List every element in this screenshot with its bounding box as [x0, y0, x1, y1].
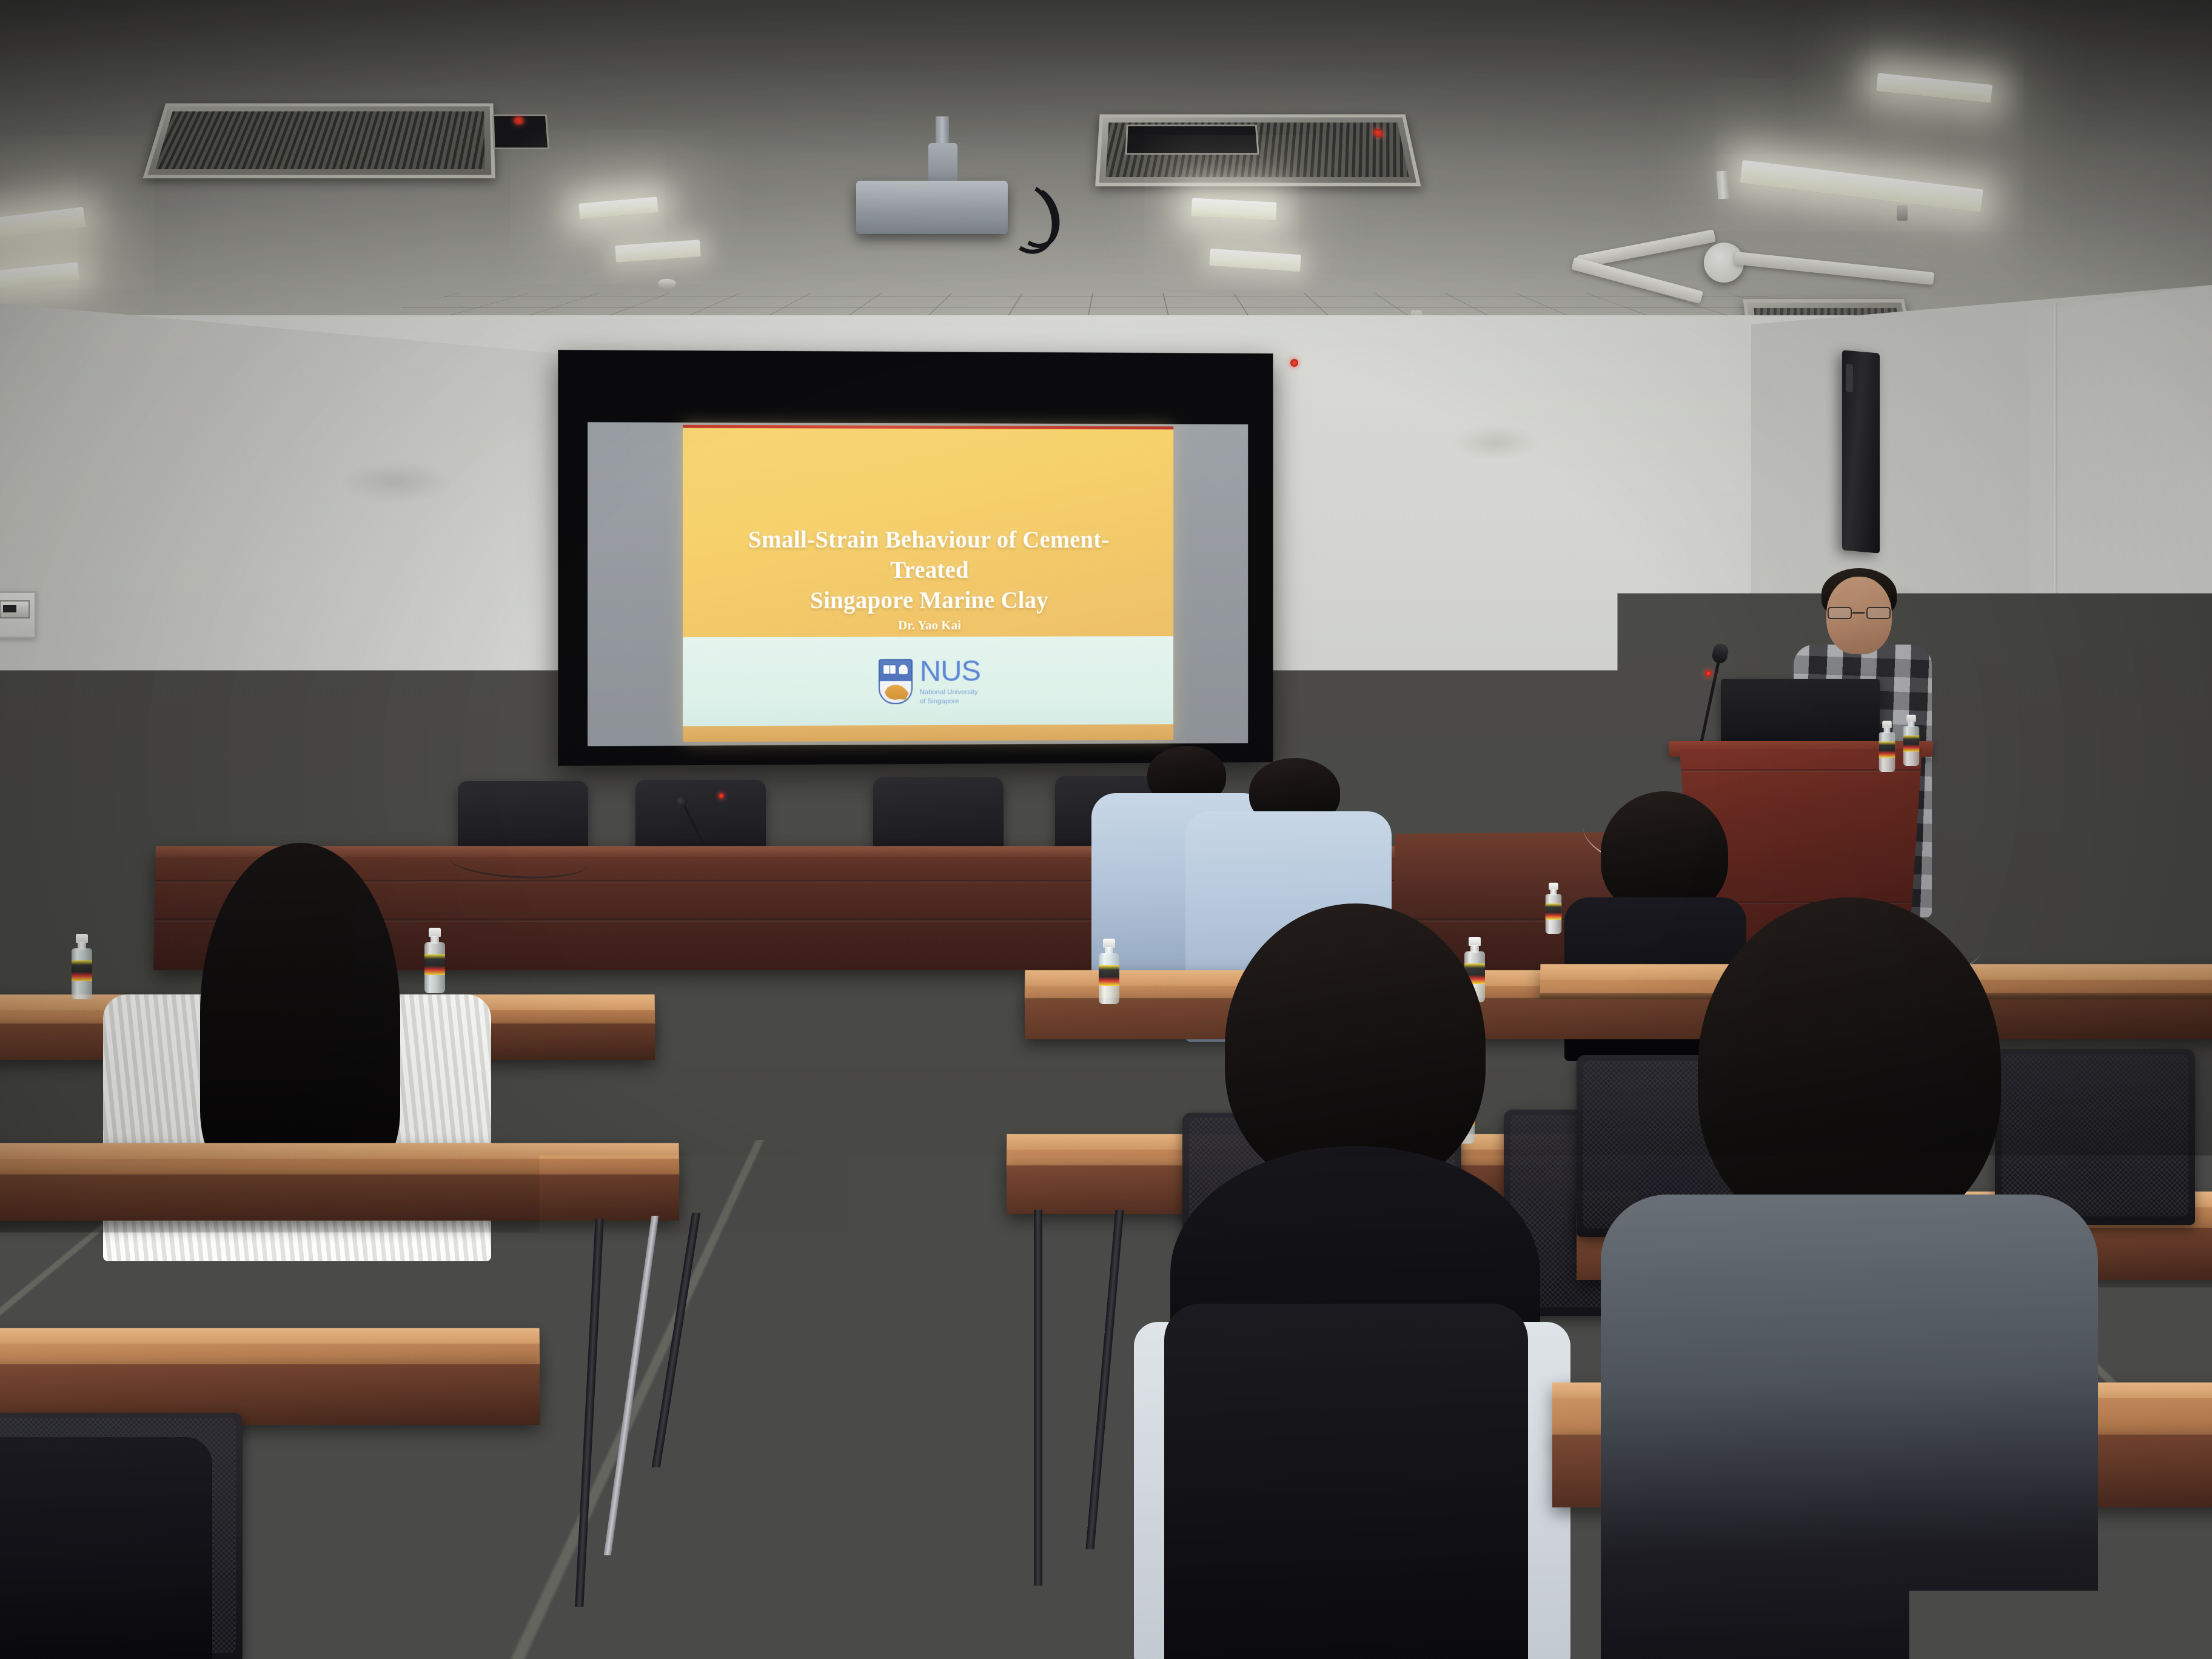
- hair: [1698, 897, 2001, 1237]
- presentation-slide: Small-Strain Behaviour of Cement-Treated…: [683, 425, 1173, 742]
- smoke-detector-icon: [658, 279, 676, 289]
- wall-mark: [1449, 424, 1540, 461]
- presenter-laptop[interactable]: [1721, 679, 1880, 751]
- lion-icon: [885, 683, 909, 700]
- audience-member: [1443, 1364, 1704, 1659]
- ac-vent-icon: [142, 103, 495, 178]
- eyeglasses-icon: [1828, 607, 1891, 619]
- water-bottle[interactable]: [1099, 939, 1119, 1004]
- wall-mark: [340, 461, 455, 503]
- wall-speaker-icon: [1842, 350, 1880, 553]
- slide-author: Dr. Yao Kai: [683, 618, 1173, 634]
- ceiling-fan-rod: [1716, 170, 1729, 199]
- nus-acronym: NUS: [920, 657, 980, 686]
- projection-screen: Small-Strain Behaviour of Cement-Treated…: [558, 350, 1273, 766]
- nus-subtitle-line2: of Singapore: [920, 698, 959, 705]
- torso-sleeve: [1443, 1382, 1522, 1659]
- water-bottle[interactable]: [72, 934, 92, 999]
- status-indicator-light: [1290, 359, 1298, 367]
- hair: [200, 843, 400, 1182]
- nus-subtitle: National University of Singapore: [920, 688, 980, 706]
- mic-indicator-light: [719, 793, 724, 799]
- slide-footer-band: NUS National University of Singapore: [683, 636, 1173, 727]
- book-icon: [883, 665, 896, 674]
- desk-leg: [1034, 1210, 1042, 1586]
- ceiling-projector: [856, 181, 1008, 234]
- ac-vent-icon: [1095, 115, 1421, 187]
- mic-indicator-light: [1705, 670, 1712, 677]
- torch-icon: [898, 664, 908, 675]
- slide-accent-bar: [683, 425, 1173, 430]
- water-bottle[interactable]: [1903, 715, 1920, 766]
- fire-sprinkler-icon: [1897, 205, 1908, 221]
- nus-shield-icon: [879, 659, 913, 704]
- electrical-panel[interactable]: [0, 591, 36, 638]
- slide-footer-stripe: [683, 724, 1173, 742]
- projection-surface: Small-Strain Behaviour of Cement-Treated…: [588, 422, 1248, 746]
- projector-mount-bracket: [928, 143, 957, 183]
- audience-member: [0, 1437, 212, 1659]
- slide-title: Small-Strain Behaviour of Cement-Treated…: [712, 525, 1144, 616]
- lecture-hall-photo: Small-Strain Behaviour of Cement-Treated…: [0, 0, 2212, 1659]
- water-bottle[interactable]: [1879, 721, 1895, 772]
- nus-subtitle-line1: National University: [920, 689, 978, 696]
- slide-title-line1: Small-Strain Behaviour of Cement-Treated: [748, 527, 1110, 583]
- nus-logo: NUS National University of Singapore: [879, 657, 980, 706]
- torso: [0, 1437, 212, 1659]
- projector-mount-pole: [936, 116, 949, 146]
- student-desk-front-panel: [0, 1175, 679, 1221]
- nus-wordmark: NUS National University of Singapore: [920, 657, 980, 706]
- slide-title-line2: Singapore Marine Clay: [810, 588, 1048, 614]
